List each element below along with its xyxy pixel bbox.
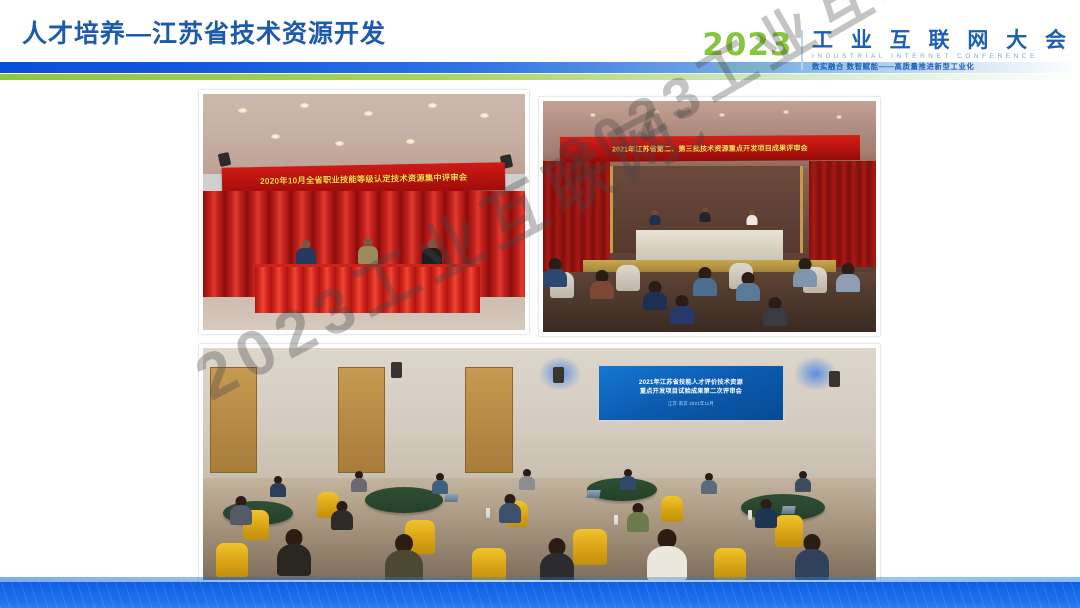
- conference-name-en: INDUSTRIAL INTERNET CONFERENCE: [812, 54, 1072, 61]
- photo-3-attendee-body: [331, 510, 353, 530]
- photo-2-ceiling-light: [836, 115, 842, 119]
- photo-3-attendee-body: [795, 549, 829, 580]
- photo-3-screen-line1: 2021年江苏省技能人才评价技术资源: [639, 379, 743, 388]
- photo-3-attendee: [620, 469, 636, 489]
- photo-3-attendee: [519, 469, 535, 489]
- photo-3-attendee: [270, 476, 286, 496]
- photo-2-attendee-body: [836, 274, 860, 292]
- photo-2-chair: [616, 265, 640, 291]
- photo-3-water-bottle: [486, 508, 490, 518]
- photo-2-panelist-body: [700, 212, 711, 222]
- photo-2-head-table: [636, 230, 783, 260]
- photo-2-curtain-right: [809, 161, 876, 267]
- photo-1-banner-text: 2020年10月全省职业技能等级认定技术资源集中评审会: [260, 171, 468, 187]
- photo-3-attendee: [795, 471, 811, 491]
- photo-3-attendee-body: [432, 480, 448, 494]
- photo-3-attendee: [755, 499, 777, 527]
- conference-logo-year-block: 2023 中国·苏州 8月14日-15日: [702, 30, 801, 71]
- photo-3-water-bottle: [748, 510, 752, 520]
- photo-conference-banner-2021: 2021年江苏省第二、第三批技术资源重点开发项目成果评审会: [539, 97, 880, 336]
- photo-3-chair: [216, 543, 248, 577]
- photo-2-attendee: [836, 263, 860, 291]
- page-title: 人才培养—江苏省技术资源开发: [22, 14, 386, 50]
- photo-3-chair: [472, 548, 506, 580]
- photo-3-attendee: [795, 534, 829, 580]
- photo-1-person-body: [358, 246, 378, 264]
- photo-2-attendee-body: [543, 269, 567, 287]
- photo-3-chair: [661, 496, 683, 522]
- photo-conference-banner-2020: 2020年10月全省职业技能等级认定技术资源集中评审会: [199, 90, 529, 334]
- conference-name-cn: 工 业 互 联 网 大 会: [812, 30, 1072, 52]
- photo-3-speaker: [829, 371, 840, 387]
- photo-3-water-bottle: [614, 515, 618, 525]
- slide-root: 人才培养—江苏省技术资源开发 2023 中国·苏州 8月14日-15日 工 业 …: [0, 0, 1080, 608]
- photo-3-attendee-body: [519, 476, 535, 490]
- photo-2-ceiling-light: [590, 113, 596, 117]
- photo-2-attendee-body: [670, 306, 694, 324]
- photo-3-attendee: [277, 529, 311, 575]
- photo-3-attendee: [331, 501, 353, 529]
- photo-3-door: [465, 367, 512, 474]
- photo-2-attendee-body: [590, 281, 614, 299]
- photo-2-panelist: [650, 210, 661, 225]
- photo-3-attendee-body: [270, 483, 286, 497]
- photo-2-banner-text: 2021年江苏省第二、第三批技术资源重点开发项目成果评审会: [612, 143, 808, 154]
- photo-2-attendee-body: [643, 292, 667, 310]
- photo-2-panelist-body: [746, 215, 757, 225]
- photo-3-round-table: [365, 487, 443, 513]
- photo-3-screen-line2: 重点开发项目试验成果第二次评审会: [640, 388, 742, 397]
- photo-2-banner: 2021年江苏省第二、第三批技术资源重点开发项目成果评审会: [560, 135, 860, 162]
- photo-3-laptop: [781, 506, 795, 514]
- photo-3-attendee-body: [230, 505, 252, 525]
- photo-3-door: [210, 367, 257, 474]
- photo-1-ceiling-light: [271, 134, 280, 139]
- photo-1-person: [422, 240, 442, 266]
- photo-2-attendee-body: [693, 278, 717, 296]
- photo-3-screen-subtitle: 江苏·南京 2021年11月: [668, 401, 714, 407]
- photo-1-ceiling-light: [364, 111, 373, 116]
- photo-2-attendee-body: [793, 269, 817, 287]
- conference-year: 2023: [702, 30, 792, 61]
- conference-logo: 2023 中国·苏州 8月14日-15日 工 业 互 联 网 大 会 INDUS…: [702, 24, 1072, 76]
- photo-3-attendee: [627, 503, 649, 531]
- photo-3-attendee-body: [701, 480, 717, 494]
- photo-3-attendee-body: [647, 546, 687, 580]
- footer-band: [0, 582, 1080, 608]
- photo-2-attendee: [763, 297, 787, 325]
- photo-1-ceiling-light: [406, 139, 415, 144]
- photo-3-attendee: [701, 473, 717, 493]
- photo-2-panelist: [746, 210, 757, 225]
- photo-2-panelist: [700, 207, 711, 222]
- photo-2-attendee: [543, 258, 567, 286]
- photo-3-attendee-body: [385, 550, 423, 580]
- photo-3-door: [338, 367, 385, 474]
- photo-3-attendee: [540, 538, 574, 580]
- photo-3-attendee-body: [540, 553, 574, 580]
- photo-3-attendee-body: [620, 476, 636, 490]
- conference-location-date: 中国·苏州 8月14日-15日: [702, 64, 792, 71]
- photo-2-attendee: [736, 272, 760, 300]
- logo-divider: [801, 30, 803, 70]
- photo-1-ceiling-light: [480, 113, 489, 118]
- photo-2-ceiling: [543, 101, 876, 138]
- conference-logo-name-block: 工 业 互 联 网 大 会 INDUSTRIAL INTERNET CONFER…: [812, 30, 1072, 71]
- photo-3-chair: [714, 548, 746, 580]
- photo-2-attendee: [643, 281, 667, 309]
- photo-3-scene: 2021年江苏省技能人才评价技术资源 重点开发项目试验成果第二次评审会 江苏·南…: [203, 348, 876, 580]
- photo-3-laptop: [586, 490, 600, 498]
- photo-2-scene: 2021年江苏省第二、第三批技术资源重点开发项目成果评审会: [543, 101, 876, 332]
- photo-2-attendee: [793, 258, 817, 286]
- photo-3-attendee-body: [627, 512, 649, 532]
- photo-3-laptop: [445, 494, 459, 502]
- photo-2-panelist-body: [650, 215, 661, 225]
- photo-1-person: [296, 240, 316, 266]
- photo-3-attendee: [351, 471, 367, 491]
- photo-3-speaker: [553, 367, 564, 383]
- photo-3-attendee: [385, 534, 423, 580]
- photo-3-attendee-body: [795, 478, 811, 492]
- photo-2-attendee-body: [763, 308, 787, 326]
- photo-2-curtain-left: [543, 161, 610, 272]
- photo-3-attendee-body: [499, 503, 521, 523]
- photo-3-speaker: [391, 362, 402, 378]
- photo-2-ceiling-light: [719, 113, 725, 117]
- photo-3-chair: [573, 529, 607, 565]
- photo-1-head-table: [255, 264, 480, 314]
- photo-2-attendee-body: [736, 283, 760, 301]
- photo-2-attendee: [693, 267, 717, 295]
- photo-2-attendee: [670, 295, 694, 323]
- conference-tagline: 数实融合 数智赋能——高质量推进新型工业化: [812, 63, 1072, 71]
- photo-3-attendee-body: [755, 508, 777, 528]
- photo-3-attendee-body: [351, 478, 367, 492]
- photo-3-attendee: [230, 496, 252, 524]
- photo-3-attendee: [647, 529, 687, 579]
- photo-1-scene: 2020年10月全省职业技能等级认定技术资源集中评审会: [203, 94, 525, 330]
- photo-3-attendee: [499, 494, 521, 522]
- photo-3-attendee-body: [277, 544, 311, 576]
- photo-1-person: [358, 238, 378, 264]
- photo-3-projection-screen: 2021年江苏省技能人才评价技术资源 重点开发项目试验成果第二次评审会 江苏·南…: [597, 364, 785, 422]
- photo-conference-hall-2021: 2021年江苏省技能人才评价技术资源 重点开发项目试验成果第二次评审会 江苏·南…: [199, 344, 880, 584]
- photo-2-attendee: [590, 270, 614, 298]
- photo-3-attendee: [432, 473, 448, 493]
